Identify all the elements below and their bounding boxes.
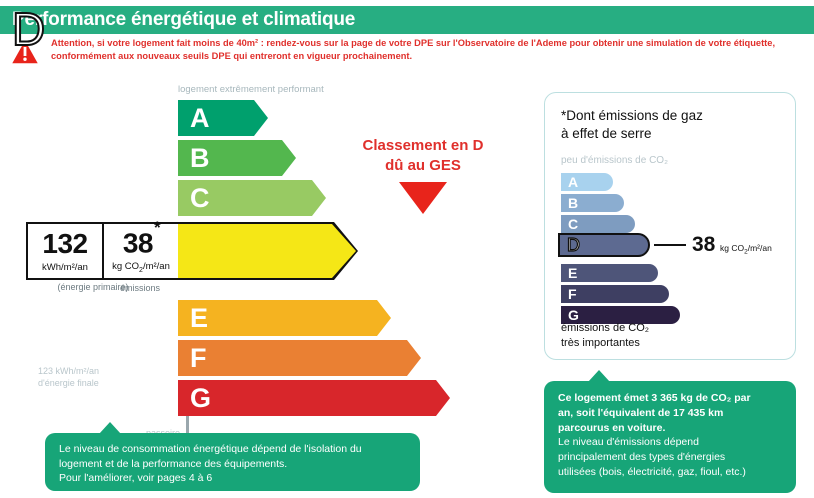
energy-bar-B: B [178,140,296,176]
ghg-bar-D: D [558,233,650,257]
info-left-line-2: logement et de la performance des équipe… [59,457,406,472]
classement-callout: Classement en D dû au GES [333,136,513,214]
energy-bar-G: G [178,380,450,416]
ghg-unit-post: /m²/an [748,243,772,253]
info-right-line-4: Le niveau d'émissions dépend [558,435,782,450]
ghg-emissions-panel: *Dont émissions de gaz à effet de serre … [544,92,796,360]
consumption-value-cell: 132 kWh/m²/an [28,224,104,278]
info-box-consumption-pointer [99,422,121,434]
warning-banner: Attention, si votre logement fait moins … [0,36,814,70]
info-right-line-1: Ce logement émet 3 365 kg de CO₂ par [558,391,782,406]
ghg-unit-pre: kg CO [720,243,744,253]
ghg-footer-line-1: émissions de CO₂ [561,321,649,336]
info-right-line-2: an, soit l'équivalent de 17 435 km [558,406,782,421]
ghg-bar-E-letter: E [561,266,577,280]
emission-unit-post: /m²/an [143,261,170,272]
info-box-consumption-text: Le niveau de consommation énergétique dé… [45,433,420,486]
ghg-title-line-2: à effet de serre [561,125,703,143]
info-box-emissions-pointer [588,370,610,382]
ghg-value-connector [654,244,686,246]
ghg-bar-G-letter: G [561,308,579,322]
emission-unit-pre: kg CO [112,261,139,272]
classement-line-1: Classement en D [333,136,513,156]
page-header-bar: Performance énergétique et climatique [0,6,814,34]
energy-bar-D-fill [178,224,356,278]
emission-value-cell: 38* kg CO2/m²/an [104,224,178,278]
final-energy-line-1: 123 kWh/m²/an [38,366,99,378]
energy-bar-G-letter: G [178,385,211,412]
down-triangle-icon [399,182,447,214]
page-title: Performance énergétique et climatique [0,9,355,31]
warning-line-1: Attention, si votre logement fait moins … [51,37,775,50]
energy-bar-C: C [178,180,326,216]
ghg-bar-F-letter: F [561,287,577,301]
ghg-scale-bottom-label: émissions de CO₂ très importantes [561,321,649,351]
ghg-value: 38 [692,234,715,255]
info-right-line-3: parcourus en voiture. [558,421,782,436]
final-energy-line-2: d'énergie finale [38,378,99,390]
energy-bar-F-letter: F [178,345,207,372]
info-left-line-1: Le niveau de consommation énergétique dé… [59,442,406,457]
label-emissions: émissions [120,283,190,293]
emission-asterisk: * [154,218,160,237]
energy-bar-E-fill [178,300,391,336]
info-left-line-3: Pour l'améliorer, voir pages 4 à 6 [59,471,406,486]
scale-caption-top: logement extrêmement performant [178,84,324,95]
emission-unit: kg CO2/m²/an [112,261,170,274]
ghg-footer-line-2: très importantes [561,336,649,351]
energy-bar-D [178,222,358,280]
info-box-consumption: Le niveau de consommation énergétique dé… [45,433,420,491]
energy-bar-C-letter: C [178,185,210,212]
energy-bar-D-letter: D [12,4,45,54]
emission-number: 38 [123,227,153,258]
energy-bar-E-letter: E [178,305,208,332]
ghg-bar-F: F [561,285,669,303]
warning-text: Attention, si votre logement fait moins … [40,36,775,63]
ghg-bar-C: C [561,215,635,233]
classement-line-2: dû au GES [333,156,513,176]
info-right-line-6: utilisées (bois, électricité, gaz, fioul… [558,465,782,480]
ghg-bar-B-letter: B [561,196,578,210]
info-right-line-5: principalement des types d'énergies [558,450,782,465]
current-rating-values: 132 kWh/m²/an 38* kg CO2/m²/an [26,222,178,280]
ghg-title-line-1: *Dont émissions de gaz [561,107,703,125]
energy-bar-A: A [178,100,268,136]
energy-bar-B-letter: B [178,145,210,172]
consumption-unit: kWh/m²/an [42,262,88,273]
ghg-scale-top-label: peu d'émissions de CO₂ [561,155,668,166]
ghg-bar-D-letter: D [560,235,580,256]
energy-bar-A-letter: A [178,105,210,132]
emission-value: 38* [123,228,159,257]
energy-bar-F: F [178,340,421,376]
ghg-value-unit: kg CO2/m²/an [720,244,772,256]
ghg-bar-C-letter: C [561,217,578,231]
warning-line-2: conformément aux nouveaux seuils DPE qui… [51,50,775,63]
energy-bar-G-fill [178,380,450,416]
ghg-bar-A-letter: A [561,175,578,189]
info-box-emissions: Ce logement émet 3 365 kg de CO₂ par an,… [544,381,796,493]
energy-bar-E: E [178,300,391,336]
ghg-bar-A: A [561,173,613,191]
ghg-bar-B: B [561,194,624,212]
ghg-panel-title: *Dont émissions de gaz à effet de serre [561,107,703,143]
label-final-energy: 123 kWh/m²/an d'énergie finale [38,366,99,389]
consumption-value: 132 [42,230,87,258]
info-box-emissions-text: Ce logement émet 3 365 kg de CO₂ par an,… [544,381,796,480]
ghg-bar-E: E [561,264,658,282]
energy-bar-F-fill [178,340,421,376]
